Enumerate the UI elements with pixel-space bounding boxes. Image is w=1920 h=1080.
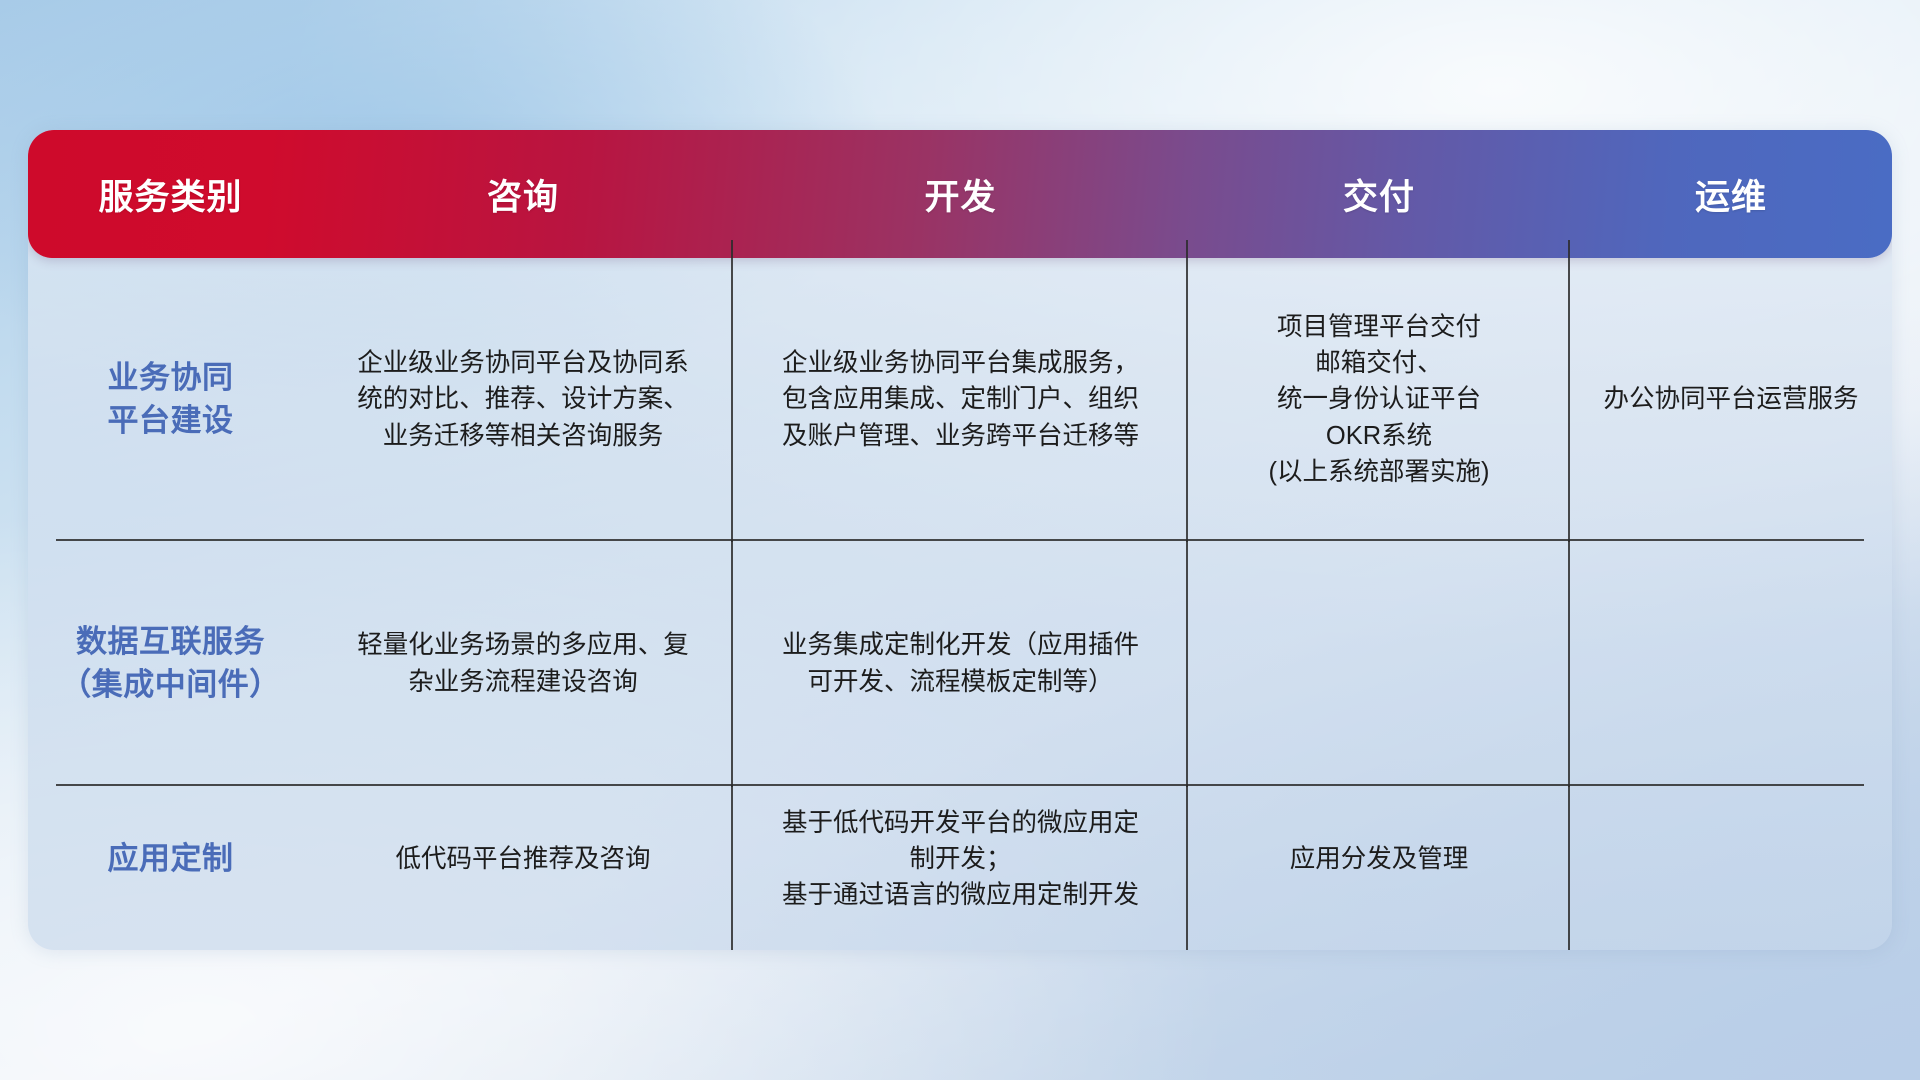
table-row: 数据互联服务 （集成中间件） 轻量化业务场景的多应用、复 杂业务流程建设咨询 业… (28, 541, 1892, 786)
column-header-delivery: 交付 (1188, 130, 1570, 258)
cell-operations (1570, 541, 1892, 786)
row-category-label: 数据互联服务 （集成中间件） (28, 541, 313, 786)
row-category-label: 应用定制 (28, 786, 313, 932)
cell-consulting: 低代码平台推荐及咨询 (313, 786, 733, 932)
cell-development: 基于低代码开发平台的微应用定 制开发； 基于通过语言的微应用定制开发 (733, 786, 1188, 932)
cell-delivery: 项目管理平台交付 邮箱交付、 统一身份认证平台 OKR系统 (以上系统部署实施) (1188, 258, 1570, 541)
cell-development: 企业级业务协同平台集成服务， 包含应用集成、定制门户、组织 及账户管理、业务跨平… (733, 258, 1188, 541)
cell-development: 业务集成定制化开发（应用插件 可开发、流程模板定制等） (733, 541, 1188, 786)
table-row: 应用定制 低代码平台推荐及咨询 基于低代码开发平台的微应用定 制开发； 基于通过… (28, 786, 1892, 932)
service-matrix-table: 服务类别 咨询 开发 交付 运维 业务协同 平台建设 企业级业务协同平台及协同系… (28, 130, 1892, 950)
row-category-label: 业务协同 平台建设 (28, 258, 313, 541)
column-header-development: 开发 (733, 130, 1188, 258)
column-header-operations: 运维 (1570, 130, 1892, 258)
cell-operations (1570, 786, 1892, 932)
table-body: 业务协同 平台建设 企业级业务协同平台及协同系 统的对比、推荐、设计方案、 业务… (28, 258, 1892, 950)
cell-delivery: 应用分发及管理 (1188, 786, 1570, 932)
table-header-row: 服务类别 咨询 开发 交付 运维 (28, 130, 1892, 258)
cell-consulting: 企业级业务协同平台及协同系 统的对比、推荐、设计方案、 业务迁移等相关咨询服务 (313, 258, 733, 541)
cell-consulting: 轻量化业务场景的多应用、复 杂业务流程建设咨询 (313, 541, 733, 786)
column-header-service-category: 服务类别 (28, 130, 313, 258)
table-row: 业务协同 平台建设 企业级业务协同平台及协同系 统的对比、推荐、设计方案、 业务… (28, 258, 1892, 541)
table-card: 服务类别 咨询 开发 交付 运维 业务协同 平台建设 企业级业务协同平台及协同系… (28, 130, 1892, 950)
cell-delivery (1188, 541, 1570, 786)
column-header-consulting: 咨询 (313, 130, 733, 258)
cell-operations: 办公协同平台运营服务 (1570, 258, 1892, 541)
